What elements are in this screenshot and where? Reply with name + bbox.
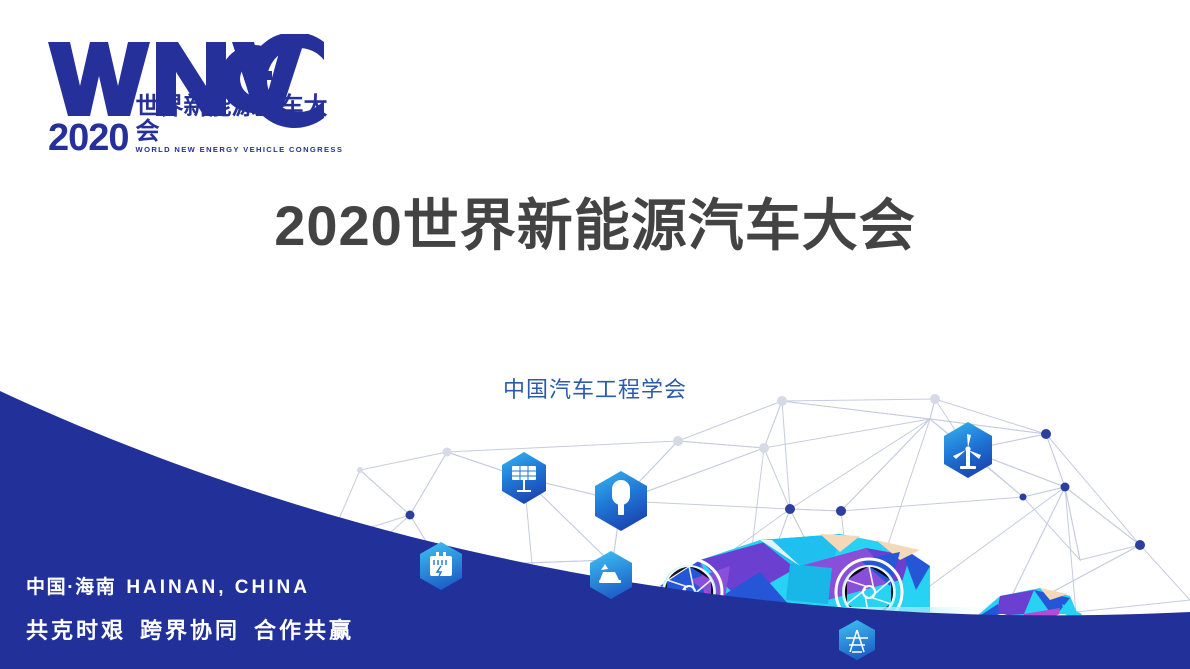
footer-slogan: 共克时艰跨界协同合作共赢: [26, 613, 368, 645]
network-mesh: [330, 399, 1190, 660]
polygonal-electric-car-small: [970, 588, 1082, 637]
power-pylon-icon: [839, 620, 875, 660]
power-plug-icon: [595, 471, 647, 531]
logo-english-name: WORLD NEW ENERGY VEHICLE CONGRESS: [136, 144, 344, 155]
footer-location: 中国·海南HAINAN, CHINA: [26, 572, 368, 599]
footer-block: 中国·海南HAINAN, CHINA 共克时艰跨界协同合作共赢: [26, 572, 368, 645]
presentation-slide: 2020 世界新能源汽车大会 WORLD NEW ENERGY VEHICLE …: [0, 0, 1190, 669]
page-title: 2020世界新能源汽车大会: [0, 194, 1190, 258]
footer-slogan-part-2: 跨界协同: [140, 618, 240, 643]
footer-slogan-part-1: 共克时艰: [26, 618, 126, 643]
wnevc-logo: 2020 世界新能源汽车大会 WORLD NEW ENERGY VEHICLE …: [46, 34, 326, 146]
polygonal-electric-car: [600, 534, 1000, 625]
organizer-name: 中国汽车工程学会: [0, 372, 1190, 404]
car-wheel-rear: [836, 559, 902, 625]
ev-car-icon: [590, 551, 632, 599]
footer-slogan-part-3: 合作共赢: [254, 618, 354, 643]
network-nodes: [357, 394, 1145, 654]
footer-location-en: HAINAN, CHINA: [126, 577, 310, 598]
car-wheel-front: [656, 559, 722, 625]
battery-icon: [420, 542, 462, 590]
footer-location-cn: 中国·海南: [26, 577, 116, 598]
wind-turbine-icon: [944, 422, 992, 478]
solar-panel-icon: [502, 452, 546, 504]
logo-year: 2020: [48, 120, 129, 156]
logo-chinese-name: 世界新能源汽车大会: [136, 94, 344, 144]
